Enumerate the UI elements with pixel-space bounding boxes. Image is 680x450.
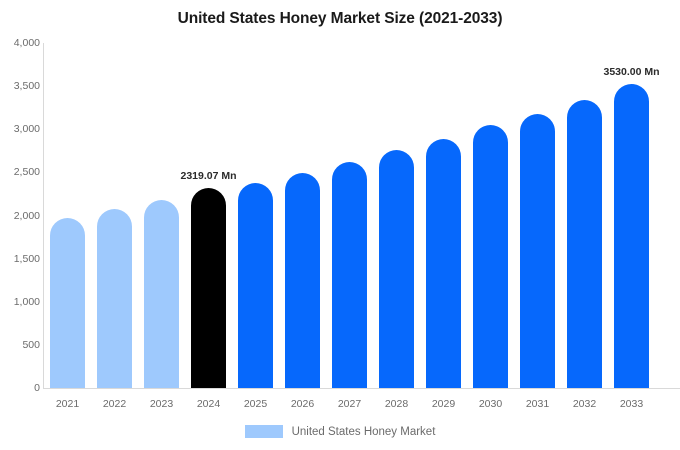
x-axis-tick-label-2029: 2029 bbox=[432, 398, 455, 410]
x-axis-line bbox=[43, 388, 680, 389]
bar-2026[interactable] bbox=[285, 173, 320, 388]
plot-area bbox=[43, 43, 680, 388]
x-axis-tick-label-2027: 2027 bbox=[338, 398, 361, 410]
bar-2022[interactable] bbox=[97, 209, 132, 388]
data-label-2024: 2319.07 Mn bbox=[180, 170, 236, 182]
bar-2028[interactable] bbox=[379, 150, 414, 388]
y-axis-tick-label: 3,500 bbox=[2, 80, 40, 92]
x-axis-tick-label-2033: 2033 bbox=[620, 398, 643, 410]
x-axis-tick-label-2028: 2028 bbox=[385, 398, 408, 410]
bar-2023[interactable] bbox=[144, 200, 179, 388]
x-axis: 2021202220232024202520262027202820292030… bbox=[43, 398, 680, 418]
bar-2024[interactable] bbox=[191, 188, 226, 388]
legend-swatch-united-states-honey-market bbox=[245, 425, 283, 438]
bar-2031[interactable] bbox=[520, 114, 555, 388]
y-axis-tick-label: 500 bbox=[2, 339, 40, 351]
x-axis-tick-label-2031: 2031 bbox=[526, 398, 549, 410]
bar-2027[interactable] bbox=[332, 162, 367, 388]
bar-2025[interactable] bbox=[238, 183, 273, 388]
y-axis-tick-label: 1,500 bbox=[2, 253, 40, 265]
x-axis-tick-label-2023: 2023 bbox=[150, 398, 173, 410]
x-axis-tick-label-2021: 2021 bbox=[56, 398, 79, 410]
y-axis-tick-label: 3,000 bbox=[2, 123, 40, 135]
x-axis-tick-label-2022: 2022 bbox=[103, 398, 126, 410]
y-axis-tick-label: 0 bbox=[2, 382, 40, 394]
bar-2030[interactable] bbox=[473, 125, 508, 388]
y-axis: 4,0003,5003,0002,5002,0001,5001,0005000 bbox=[0, 0, 40, 450]
bar-series bbox=[43, 43, 680, 388]
x-axis-tick-label-2026: 2026 bbox=[291, 398, 314, 410]
bar-2021[interactable] bbox=[50, 218, 85, 388]
y-axis-tick-label: 2,500 bbox=[2, 166, 40, 178]
x-axis-tick-label-2030: 2030 bbox=[479, 398, 502, 410]
chart-legend: United States Honey Market bbox=[0, 425, 680, 438]
bar-2033[interactable] bbox=[614, 84, 649, 388]
x-axis-tick-label-2025: 2025 bbox=[244, 398, 267, 410]
legend-label-united-states-honey-market[interactable]: United States Honey Market bbox=[292, 426, 436, 438]
y-axis-tick-label: 1,000 bbox=[2, 296, 40, 308]
chart-container: United States Honey Market Size (2021-20… bbox=[0, 0, 680, 450]
bar-2032[interactable] bbox=[567, 100, 602, 388]
y-axis-tick-label: 2,000 bbox=[2, 210, 40, 222]
data-label-2033: 3530.00 Mn bbox=[603, 66, 659, 78]
x-axis-tick-label-2024: 2024 bbox=[197, 398, 220, 410]
chart-title: United States Honey Market Size (2021-20… bbox=[0, 10, 680, 28]
y-axis-tick-label: 4,000 bbox=[2, 37, 40, 49]
bar-2029[interactable] bbox=[426, 139, 461, 388]
x-axis-tick-label-2032: 2032 bbox=[573, 398, 596, 410]
